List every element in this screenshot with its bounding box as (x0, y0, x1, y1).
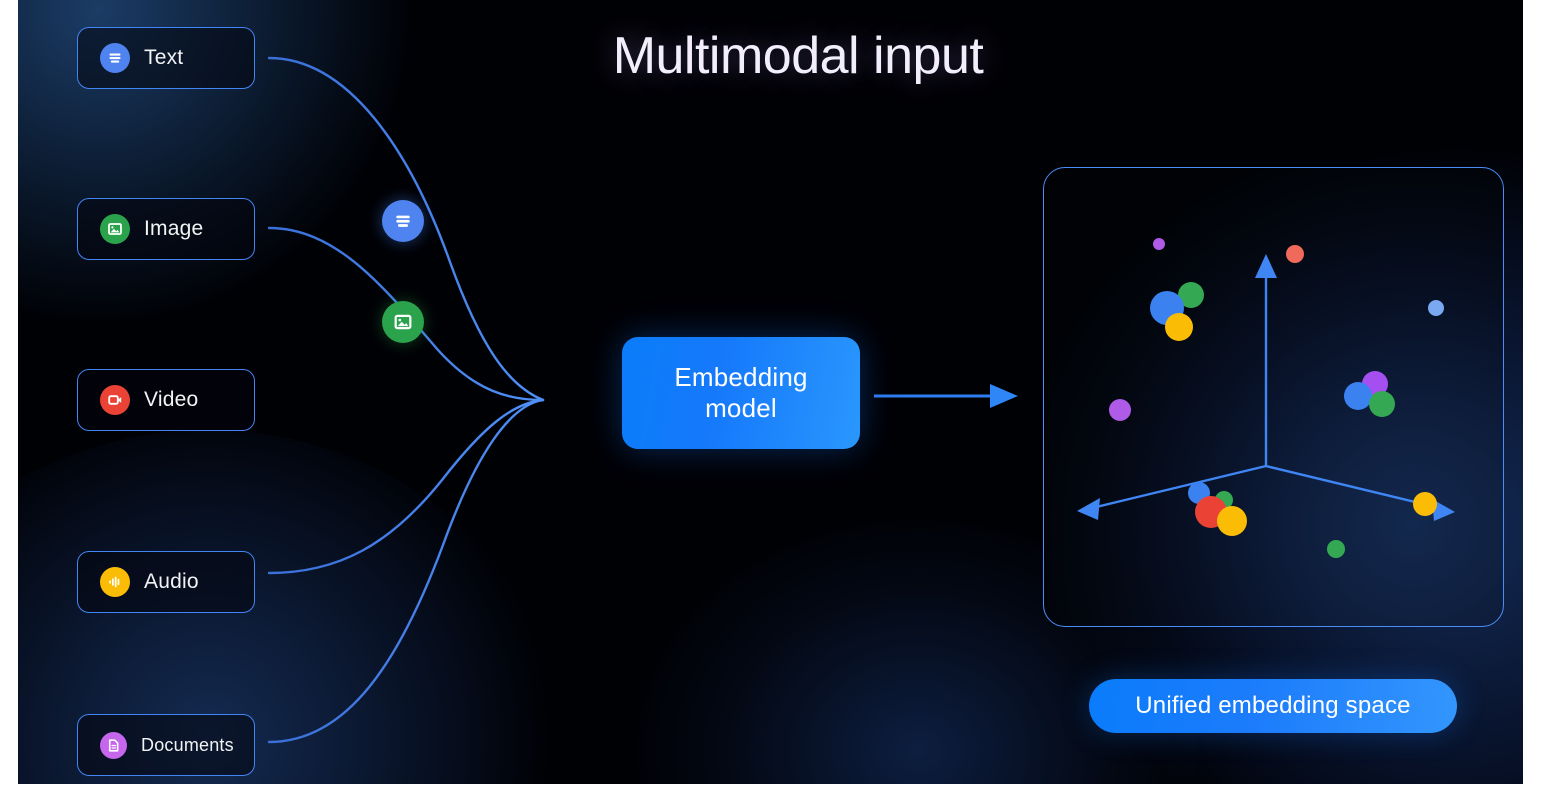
input-chip-image[interactable]: Image (77, 198, 255, 260)
connector-audio (269, 400, 543, 573)
arrow-model-to-space (874, 384, 1018, 408)
dark-canvas: Multimodal input (18, 0, 1523, 784)
input-chip-label: Video (144, 388, 198, 412)
embedding-axes (1044, 168, 1503, 626)
diagram-canvas: Multimodal input (0, 0, 1548, 802)
embedding-point (1327, 540, 1345, 558)
text-lines-icon (100, 43, 130, 73)
document-icon (100, 732, 127, 759)
input-chip-label: Audio (144, 570, 199, 594)
embedding-space-panel (1043, 167, 1504, 627)
embedding-point (1217, 506, 1247, 536)
input-chip-label: Text (144, 46, 183, 70)
embedding-point (1165, 313, 1193, 341)
image-icon (100, 214, 130, 244)
embedding-point (1109, 399, 1131, 421)
embedding-point (1428, 300, 1444, 316)
axis-up-arrowhead (1255, 254, 1277, 278)
unified-embedding-space-pill[interactable]: Unified embedding space (1089, 679, 1457, 733)
input-chip-documents[interactable]: Documents (77, 714, 255, 776)
input-chip-audio[interactable]: Audio (77, 551, 255, 613)
embedding-point (1369, 391, 1395, 417)
unified-embedding-space-label: Unified embedding space (1135, 692, 1410, 720)
axis-left-arrowhead (1077, 498, 1100, 520)
video-camera-icon (100, 385, 130, 415)
input-chip-text[interactable]: Text (77, 27, 255, 89)
embedding-model-box[interactable]: Embedding model (622, 337, 860, 449)
embedding-point (1286, 245, 1304, 263)
flow-node-image-icon (382, 301, 424, 343)
connector-documents (269, 400, 543, 742)
waveform-icon (100, 567, 130, 597)
embedding-point (1153, 238, 1165, 250)
input-chip-label: Documents (141, 735, 234, 756)
flow-node-text-lines-icon (382, 200, 424, 242)
embedding-point (1344, 382, 1372, 410)
embedding-point (1413, 492, 1437, 516)
input-chip-video[interactable]: Video (77, 369, 255, 431)
input-chip-label: Image (144, 217, 203, 241)
embedding-model-label: Embedding model (674, 362, 807, 423)
axis-left (1092, 466, 1266, 508)
